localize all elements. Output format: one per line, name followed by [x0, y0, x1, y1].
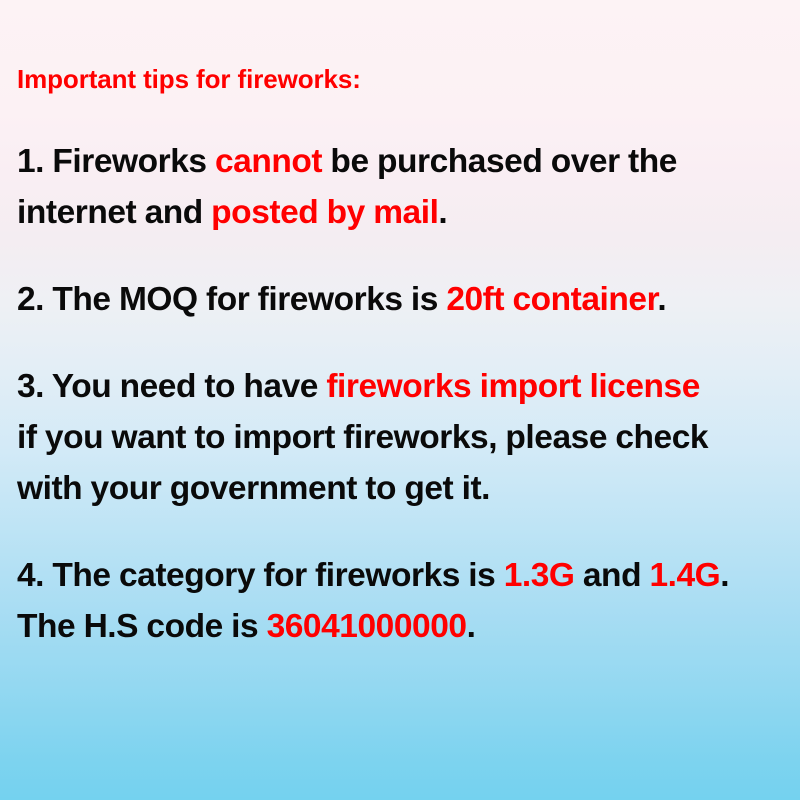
tip-text: . — [657, 281, 666, 318]
tip-text: be purchased over the — [322, 143, 677, 180]
highlighted-text: fireworks import license — [326, 368, 700, 405]
tip-line: 4. The category for fireworks is 1.3G an… — [17, 550, 786, 601]
tip-text: 1. Fireworks — [17, 143, 215, 180]
tips-list: 1. Fireworks cannot be purchased over th… — [17, 136, 786, 652]
tip-text: 2. The MOQ for fireworks is — [17, 281, 446, 318]
fireworks-tips-poster: Important tips for fireworks: 1. Firewor… — [0, 0, 800, 800]
highlighted-text: 20ft container — [446, 281, 657, 318]
page-title: Important tips for fireworks: — [17, 62, 786, 96]
tip-line: if you want to import fireworks, please … — [17, 412, 786, 463]
highlighted-text: 1.3G — [504, 557, 575, 594]
tip-line: 2. The MOQ for fireworks is 20ft contain… — [17, 274, 786, 325]
highlighted-text: 36041000000 — [267, 608, 467, 645]
tip-text: if you want to import fireworks, please … — [17, 419, 708, 456]
tip-line: 3. You need to have fireworks import lic… — [17, 361, 786, 412]
tip-text: The H.S code is — [17, 608, 267, 645]
tip-text: . — [438, 194, 447, 231]
tip-item: 4. The category for fireworks is 1.3G an… — [17, 550, 786, 652]
tip-text: . — [467, 608, 476, 645]
tip-text: . — [720, 557, 729, 594]
poster-content: Important tips for fireworks: 1. Firewor… — [17, 62, 786, 652]
tip-text: and — [575, 557, 650, 594]
tip-line: 1. Fireworks cannot be purchased over th… — [17, 136, 786, 187]
tip-line: internet and posted by mail. — [17, 187, 786, 238]
tip-text: 3. You need to have — [17, 368, 326, 405]
tip-text: 4. The category for fireworks is — [17, 557, 504, 594]
tip-line: with your government to get it. — [17, 463, 786, 514]
tip-item: 3. You need to have fireworks import lic… — [17, 361, 786, 514]
tip-text: internet and — [17, 194, 211, 231]
highlighted-text: 1.4G — [649, 557, 720, 594]
highlighted-text: posted by mail — [211, 194, 438, 231]
tip-item: 2. The MOQ for fireworks is 20ft contain… — [17, 274, 786, 325]
tip-line: The H.S code is 36041000000. — [17, 601, 786, 652]
highlighted-text: cannot — [215, 143, 322, 180]
tip-text: with your government to get it. — [17, 470, 490, 507]
tip-item: 1. Fireworks cannot be purchased over th… — [17, 136, 786, 238]
